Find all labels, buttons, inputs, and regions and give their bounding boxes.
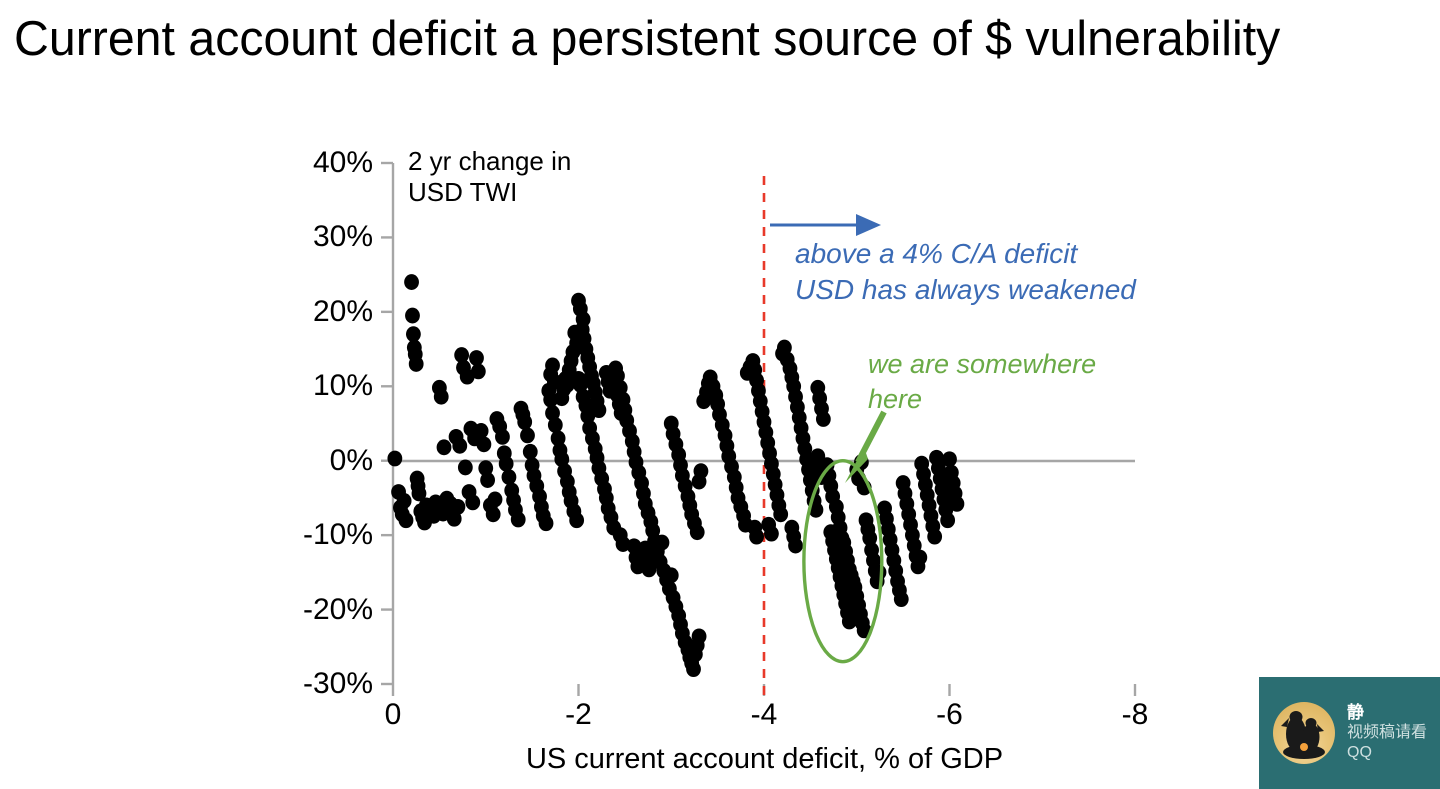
- data-points-layer: [387, 274, 964, 677]
- data-point: [616, 536, 631, 552]
- y-axis-tick-label: 40%: [283, 148, 373, 178]
- data-point: [749, 529, 764, 545]
- slide-root: Current account deficit a persistent sou…: [0, 0, 1440, 789]
- data-point: [642, 561, 657, 577]
- y-axis-tick-label: -10%: [283, 520, 373, 550]
- data-point: [547, 374, 562, 390]
- x-axis-title: US current account deficit, % of GDP: [392, 745, 1137, 774]
- data-point: [399, 512, 414, 528]
- watermark-card: 静 视频稿请看 QQ: [1259, 677, 1440, 789]
- x-axis-tick-label: 0: [353, 700, 433, 730]
- x-axis-tick-label: -6: [910, 700, 990, 730]
- data-point: [517, 414, 532, 430]
- x-axis-tick-label: -8: [1095, 700, 1175, 730]
- data-point: [940, 512, 955, 528]
- annotation-current-position: we are somewherehere: [868, 347, 1148, 416]
- data-point: [942, 451, 957, 467]
- data-point: [474, 423, 489, 439]
- green-down-left-arrow-icon: [845, 412, 884, 483]
- data-point: [664, 567, 679, 583]
- scatter-chart: 2 yr change inUSD TWI US current account…: [0, 0, 1440, 789]
- y-axis-tick-label: 0%: [283, 446, 373, 476]
- data-point: [471, 364, 486, 380]
- data-point: [480, 472, 495, 488]
- data-point: [872, 564, 887, 580]
- data-point: [523, 444, 538, 460]
- watermark-username: 静: [1347, 702, 1427, 723]
- x-axis-tick-label: -2: [539, 700, 619, 730]
- data-point: [894, 591, 909, 607]
- watermark-text-block: 静 视频稿请看 QQ: [1347, 702, 1427, 764]
- data-point: [437, 439, 452, 455]
- data-point: [816, 411, 831, 427]
- data-point: [488, 492, 503, 508]
- data-point: [409, 356, 424, 372]
- data-point: [441, 497, 456, 513]
- annotation-above-threshold: above a 4% C/A deficitUSD has always wea…: [795, 236, 1195, 308]
- data-point: [406, 326, 421, 342]
- data-point: [434, 389, 449, 405]
- y-axis-tick-label: -30%: [283, 669, 373, 699]
- data-point: [950, 496, 965, 512]
- data-point: [927, 529, 942, 545]
- data-point: [452, 438, 467, 454]
- y-axis-title: 2 yr change inUSD TWI: [408, 146, 648, 208]
- y-axis-ticks: [381, 163, 393, 684]
- annotation-line: we are somewhere: [868, 347, 1148, 382]
- y-axis-tick-label: -20%: [283, 595, 373, 625]
- data-point: [592, 402, 607, 418]
- data-point: [486, 506, 501, 522]
- data-point: [397, 493, 412, 509]
- data-point: [560, 377, 575, 393]
- y-axis-tick-label: 30%: [283, 222, 373, 252]
- watermark-platform: QQ: [1347, 743, 1427, 764]
- annotation-line: here: [868, 382, 1148, 417]
- y-axis-tick-label: 20%: [283, 297, 373, 327]
- data-point: [842, 614, 857, 630]
- data-point: [692, 628, 707, 644]
- data-point: [511, 512, 526, 528]
- data-point: [499, 456, 514, 472]
- data-point: [690, 524, 705, 540]
- data-point: [495, 429, 510, 445]
- data-point: [548, 417, 563, 433]
- annotation-line: above a 4% C/A deficit: [795, 236, 1195, 272]
- watermark-subtitle: 视频稿请看: [1347, 723, 1427, 743]
- data-point: [686, 661, 701, 677]
- penguin-avatar-icon: [1273, 702, 1335, 764]
- data-point: [694, 463, 709, 479]
- data-point: [912, 550, 927, 566]
- data-point: [764, 526, 779, 542]
- data-point: [614, 405, 629, 421]
- data-point: [405, 308, 420, 324]
- data-point: [465, 494, 480, 510]
- y-axis-tick-label: 10%: [283, 371, 373, 401]
- data-point: [539, 515, 554, 531]
- data-point: [520, 428, 535, 444]
- data-point: [469, 350, 484, 366]
- data-point: [773, 506, 788, 522]
- data-point: [788, 538, 803, 554]
- data-point: [655, 535, 670, 551]
- x-axis-tick-label: -4: [724, 700, 804, 730]
- data-point: [458, 460, 473, 476]
- data-point: [502, 469, 517, 485]
- plot-svg: [0, 0, 1440, 789]
- data-point: [404, 274, 419, 290]
- annotation-line: USD has always weakened: [795, 272, 1195, 308]
- data-point: [476, 436, 491, 452]
- data-point: [387, 451, 402, 467]
- blue-right-arrow-icon: [770, 214, 881, 236]
- data-point: [569, 512, 584, 528]
